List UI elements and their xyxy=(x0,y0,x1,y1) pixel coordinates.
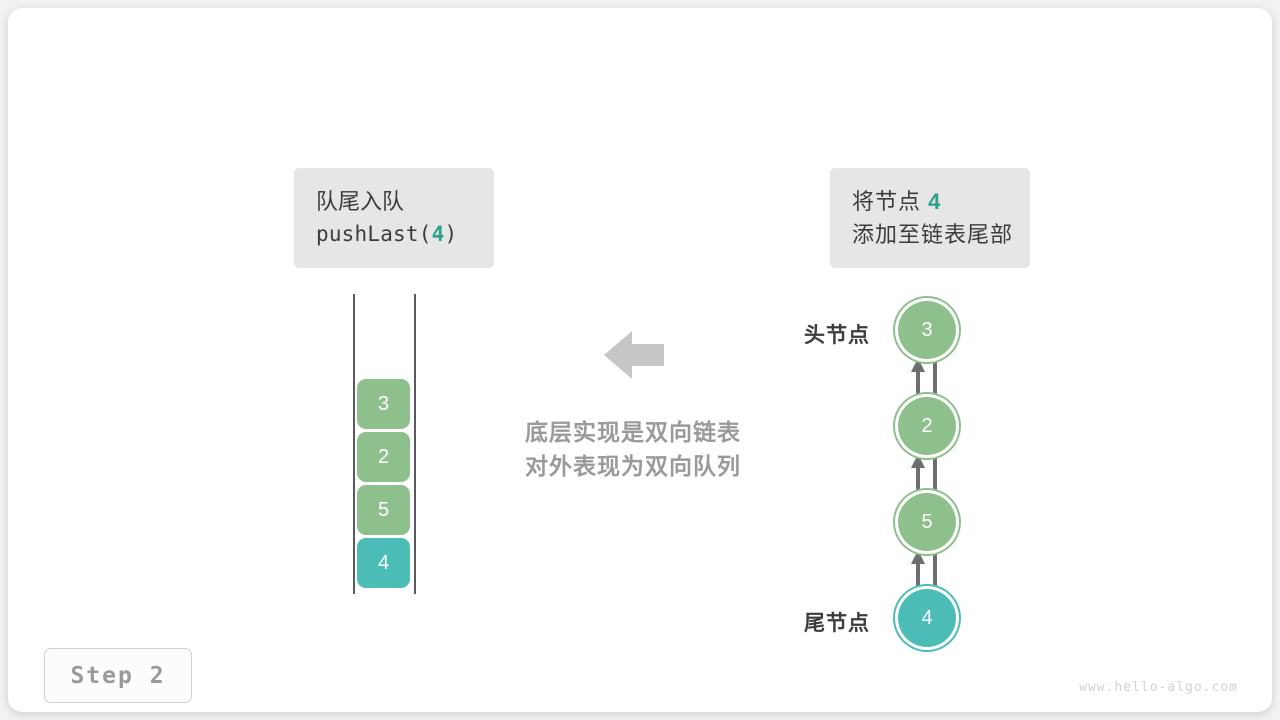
diagram-card: 队尾入队 pushLast(4) 将节点 4 添加至链表尾部 底层实现是双向链表… xyxy=(8,8,1272,712)
list-node-value: 3 xyxy=(921,319,932,342)
deque-cell-value: 5 xyxy=(378,499,389,522)
center-note-line2: 对外表现为双向队列 xyxy=(486,449,780,483)
list-node-value: 5 xyxy=(921,511,932,534)
caption-right-value: 4 xyxy=(928,189,941,214)
caption-right-prefix: 将节点 xyxy=(852,189,928,214)
caption-left-line1: 队尾入队 xyxy=(316,185,404,218)
deque-cell-value: 2 xyxy=(378,446,389,469)
pushlast-prefix: pushLast( xyxy=(316,222,432,246)
caption-box-operation: 队尾入队 pushLast(4) xyxy=(294,168,494,268)
list-node: 4 xyxy=(898,589,956,647)
list-node: 2 xyxy=(898,397,956,455)
caption-box-explanation: 将节点 4 添加至链表尾部 xyxy=(830,168,1030,268)
caption-right-line2: 添加至链表尾部 xyxy=(852,218,1013,251)
center-note-line1: 底层实现是双向链表 xyxy=(486,415,780,449)
deque-cell: 2 xyxy=(357,432,410,482)
center-note: 底层实现是双向链表 对外表现为双向队列 xyxy=(486,415,780,483)
deque-cell: 5 xyxy=(357,485,410,535)
pushlast-suffix: ) xyxy=(444,222,457,246)
tail-node-label: 尾节点 xyxy=(730,607,870,637)
list-node: 5 xyxy=(898,493,956,551)
deque-cell: 3 xyxy=(357,379,410,429)
equivalence-arrow-icon xyxy=(604,326,664,384)
deque-cell: 4 xyxy=(357,538,410,588)
list-node-value: 2 xyxy=(921,415,932,438)
step-badge: Step 2 xyxy=(44,648,192,703)
diagram-canvas: 队尾入队 pushLast(4) 将节点 4 添加至链表尾部 底层实现是双向链表… xyxy=(0,0,1280,720)
deque-rail-left xyxy=(353,294,355,594)
deque-cell-value: 4 xyxy=(378,552,389,575)
head-node-label: 头节点 xyxy=(730,319,870,349)
deque-rail-right xyxy=(414,294,416,594)
list-node: 3 xyxy=(898,301,956,359)
caption-right-line1: 将节点 4 xyxy=(852,185,941,218)
watermark: www.hello-algo.com xyxy=(1079,680,1238,695)
list-node-value: 4 xyxy=(921,607,932,630)
deque-cell-value: 3 xyxy=(378,393,389,416)
pushlast-value: 4 xyxy=(432,222,445,246)
caption-left-line2: pushLast(4) xyxy=(316,218,457,251)
